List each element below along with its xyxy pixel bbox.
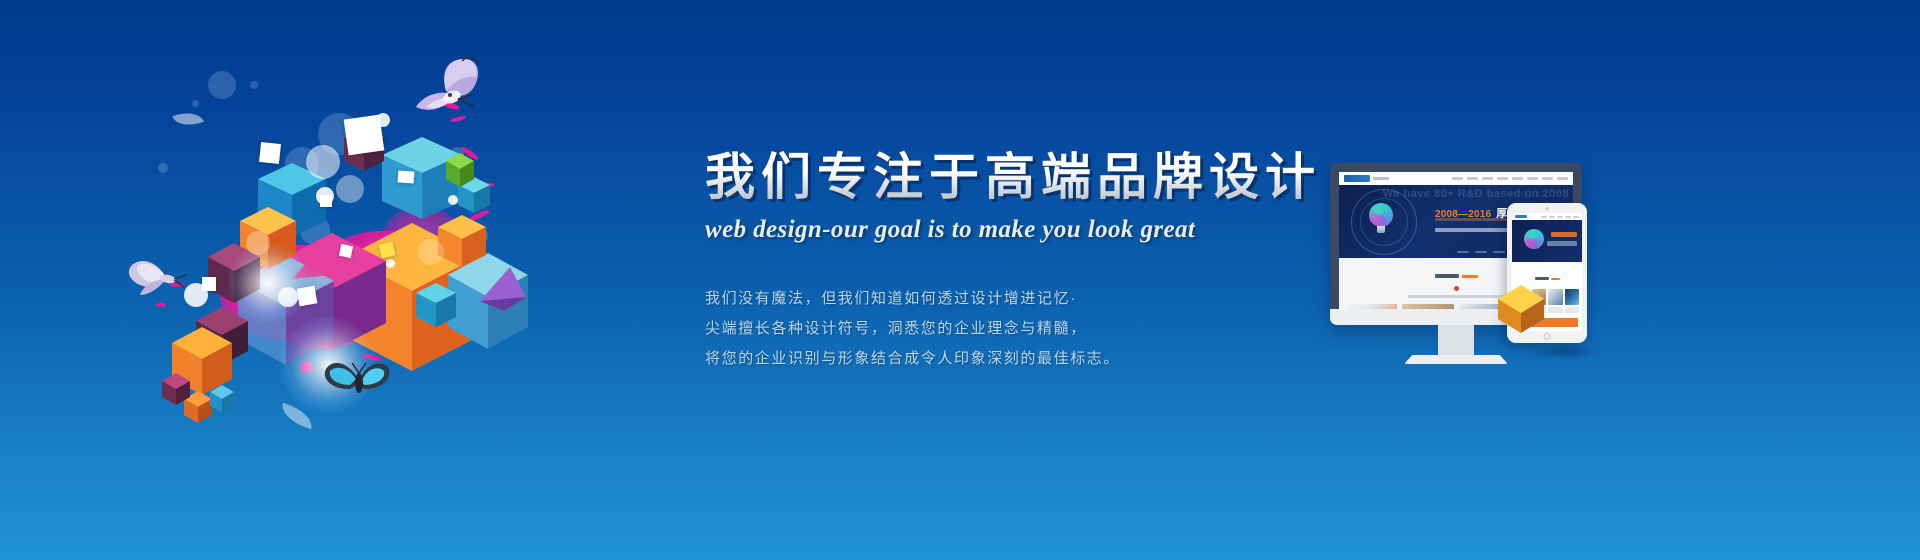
phone-thumb-4[interactable] [1565,289,1580,305]
site-logo-icon [1344,175,1370,182]
page-title: 我们专注于高端品牌设计 [705,150,1345,204]
monitor-stand-neck [1438,325,1474,357]
phone-section-title [1512,262,1582,285]
petal-shapes [150,55,630,455]
body-line-1: 我们没有魔法，但我们知道如何透过设计增进记忆· [705,284,1345,314]
phone-home-button[interactable] [1544,333,1551,340]
site-nav-items [1452,177,1568,180]
device-shadow [1526,345,1604,359]
site-logo-text [1373,177,1389,180]
lightbulb-icon [1369,203,1393,233]
phone-thumb-3[interactable] [1548,289,1563,305]
copy-block: 我们专注于高端品牌设计 web design-our goal is to ma… [705,150,1345,374]
gold-cube-accent [1498,285,1544,333]
body-line-3: 将您的企业识别与形象结合成令人印象深刻的最佳标志。 [705,344,1345,374]
site-navbar [1339,172,1573,185]
phone-lightbulb-icon [1524,229,1544,251]
hero-ghost-text: We have 80+ R&D based on 2008 [1383,188,1569,200]
page-subtitle: web design-our goal is to make you look … [705,216,1345,244]
phone-hero-subtitle [1547,241,1577,246]
banner-stage: 我们专注于高端品牌设计 web design-our goal is to ma… [0,0,1920,560]
phone-camera-icon [1546,207,1549,210]
body-line-2: 尖端擅长各种设计符号，洞悉您的企业理念与精髓， [705,314,1345,344]
phone-hero [1512,220,1582,262]
section-accent-dot [1454,286,1459,291]
monitor-stand-base [1404,355,1508,364]
device-mockup-group: We have 80+ R&D based on 2008 2008—2016 … [1330,163,1600,383]
phone-logo-icon [1515,215,1527,218]
abstract-artwork [150,55,630,455]
body-copy: 我们没有魔法，但我们知道如何透过设计增进记忆· 尖端擅长各种设计符号，洞悉您的企… [705,284,1345,374]
phone-hero-title [1551,232,1577,237]
phone-navbar [1512,213,1582,220]
